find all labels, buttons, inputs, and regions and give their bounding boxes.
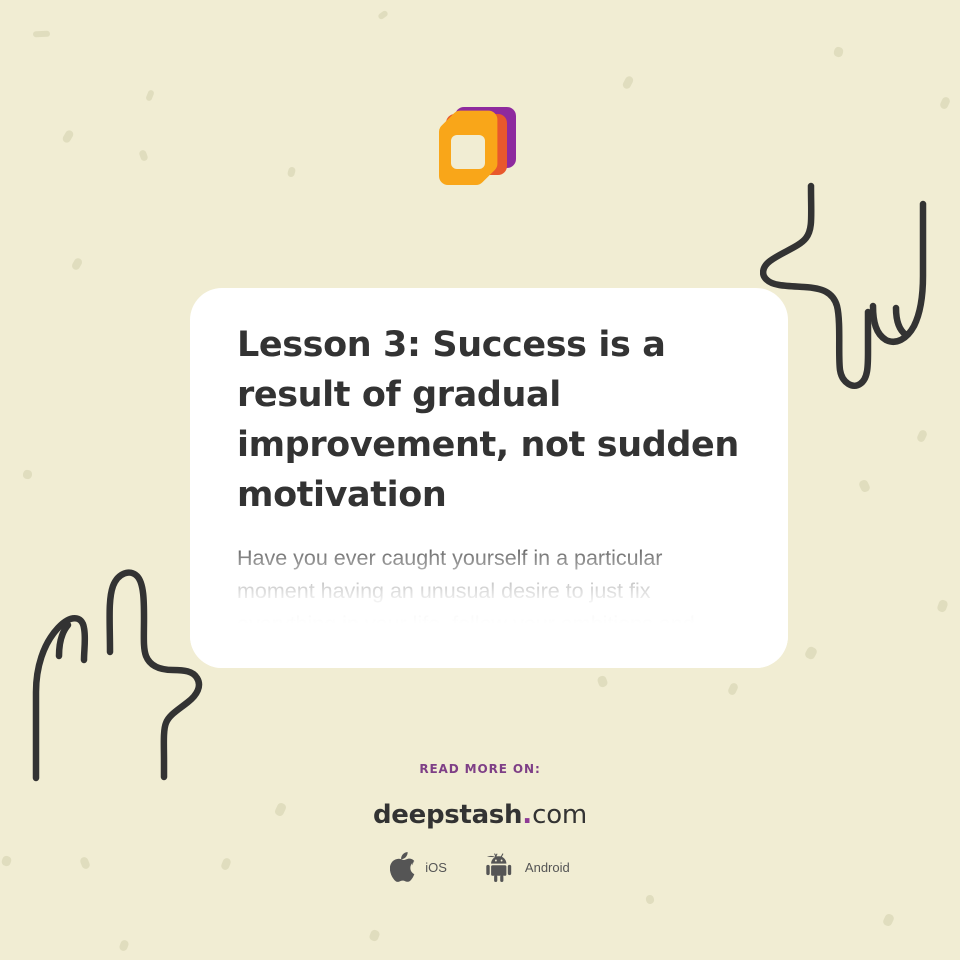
pointing-hand-icon-right <box>760 180 960 395</box>
ios-label: iOS <box>425 860 447 875</box>
confetti-speck <box>936 599 949 613</box>
confetti-speck <box>804 645 818 660</box>
apple-icon <box>390 852 416 883</box>
confetti-speck <box>858 479 871 494</box>
brand-name: deepstash.com <box>0 802 960 828</box>
confetti-speck <box>138 149 148 162</box>
card-body-text: Have you ever caught yourself in a parti… <box>237 542 741 668</box>
confetti-speck <box>596 675 608 688</box>
android-badge[interactable]: Android <box>485 852 570 883</box>
confetti-speck <box>882 913 895 928</box>
android-icon <box>485 852 516 883</box>
deepstash-logo <box>430 105 518 193</box>
confetti-speck <box>621 75 634 90</box>
confetti-speck <box>833 46 844 58</box>
confetti-speck <box>33 31 50 38</box>
app-store-badges: iOS <box>0 852 960 883</box>
ios-badge[interactable]: iOS <box>390 852 447 883</box>
confetti-speck <box>118 939 129 952</box>
brand-tld: com <box>532 800 587 830</box>
android-label: Android <box>525 860 570 875</box>
confetti-speck <box>145 89 155 101</box>
footer: READ MORE ON: deepstash.com iOS <box>0 762 960 883</box>
confetti-speck <box>645 894 655 905</box>
confetti-speck <box>727 682 739 696</box>
confetti-speck <box>287 166 296 177</box>
confetti-speck <box>939 96 951 110</box>
poster-canvas: Lesson 3: Success is a result of gradual… <box>0 0 960 960</box>
confetti-speck <box>916 429 928 443</box>
card-title: Lesson 3: Success is a result of gradual… <box>237 320 741 520</box>
brand-main: deepstash <box>373 800 522 830</box>
brand-dot: . <box>522 800 532 830</box>
card-content: Lesson 3: Success is a result of gradual… <box>190 288 788 668</box>
confetti-speck <box>61 129 74 144</box>
lesson-card: Lesson 3: Success is a result of gradual… <box>190 288 788 668</box>
confetti-speck <box>71 257 84 271</box>
confetti-speck <box>368 929 380 943</box>
confetti-speck <box>377 10 389 21</box>
confetti-speck <box>22 469 32 479</box>
read-more-label: READ MORE ON: <box>0 762 960 776</box>
pointing-hand-icon-left <box>18 560 213 785</box>
